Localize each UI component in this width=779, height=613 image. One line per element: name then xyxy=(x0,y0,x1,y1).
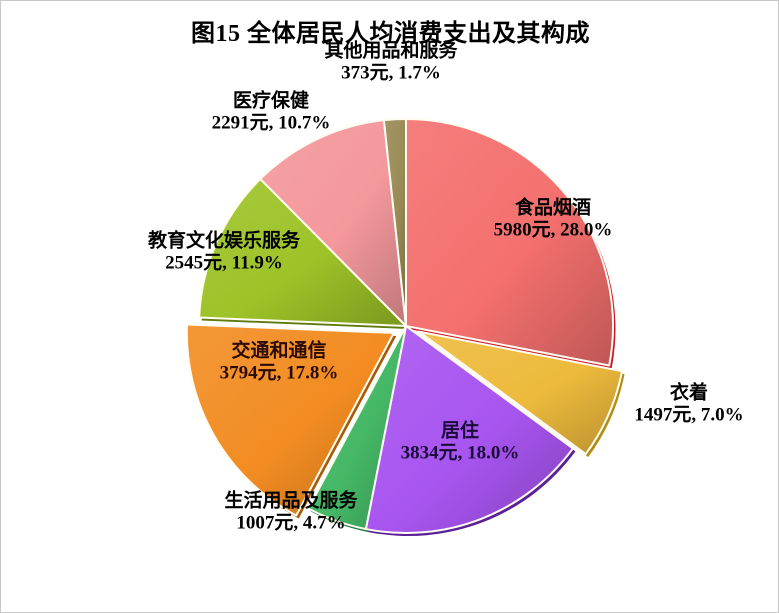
pie-label-1: 食品烟酒5980元, 28.0% xyxy=(494,198,613,243)
pie-label-value: 3794元, 17.8% xyxy=(220,363,339,385)
pie-label-name: 教育文化娱乐服务 xyxy=(148,231,300,253)
pie-label-value: 1007元, 4.7% xyxy=(224,513,357,535)
pie-label-value: 2291元, 10.7% xyxy=(212,113,331,135)
pie-label-name: 医疗保健 xyxy=(212,91,331,113)
pie-label-value: 5980元, 28.0% xyxy=(494,220,613,242)
pie-label-name: 衣着 xyxy=(634,383,743,405)
pie-label-7: 医疗保健2291元, 10.7% xyxy=(212,91,331,136)
pie-label-3: 居住3834元, 18.0% xyxy=(401,421,520,466)
pie-chart: 食品烟酒5980元, 28.0%衣着1497元, 7.0%居住3834元, 18… xyxy=(1,1,779,613)
pie-label-value: 3834元, 18.0% xyxy=(401,443,520,465)
pie-label-name: 生活用品及服务 xyxy=(224,491,357,513)
pie-label-value: 1497元, 7.0% xyxy=(634,405,743,427)
chart-figure: 图15 全体居民人均消费支出及其构成 食品烟酒5980元, 28.0%衣着149… xyxy=(0,0,779,613)
pie-label-name: 交通和通信 xyxy=(220,341,339,363)
pie-label-value: 2545元, 11.9% xyxy=(148,253,300,275)
pie-label-5: 交通和通信3794元, 17.8% xyxy=(220,341,339,386)
pie-label-2: 衣着1497元, 7.0% xyxy=(634,383,743,428)
pie-label-name: 居住 xyxy=(401,421,520,443)
pie-label-6: 教育文化娱乐服务2545元, 11.9% xyxy=(148,231,300,276)
pie-chart-svg xyxy=(1,1,779,613)
pie-label-value: 373元, 1.7% xyxy=(324,63,457,85)
pie-label-name: 食品烟酒 xyxy=(494,198,613,220)
pie-label-8: 其他用品和服务373元, 1.7% xyxy=(324,41,457,86)
pie-label-name: 其他用品和服务 xyxy=(324,41,457,63)
pie-label-4: 生活用品及服务1007元, 4.7% xyxy=(224,491,357,536)
